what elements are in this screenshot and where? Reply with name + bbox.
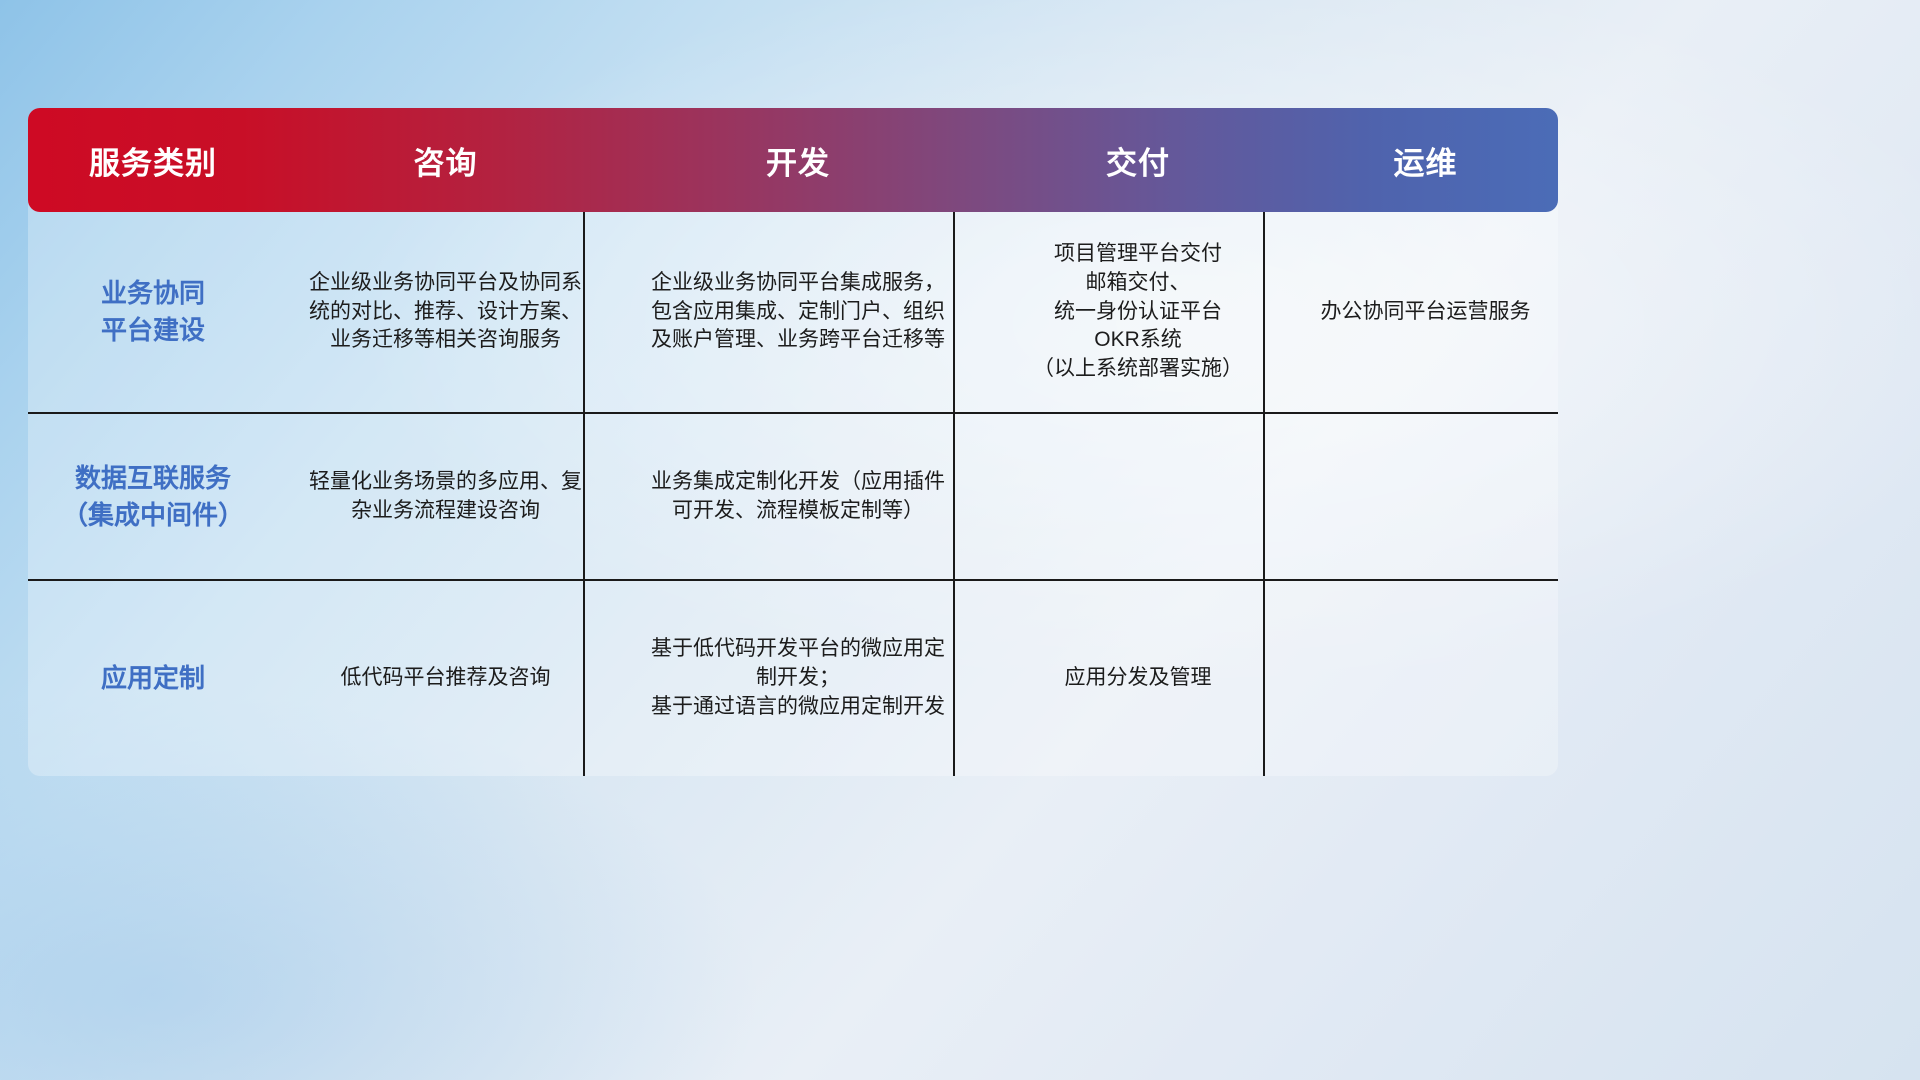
column-header-consulting: 咨询 (278, 138, 613, 183)
service-matrix-table: 服务类别 咨询 开发 交付 运维 业务协同 平台建设 企业级业务协同平台及协同系… (28, 108, 1558, 776)
row-category-label: 业务协同 平台建设 (28, 212, 278, 412)
table-row: 业务协同 平台建设 企业级业务协同平台及协同系 统的对比、推荐、设计方案、 业务… (28, 212, 1558, 412)
column-header-delivery: 交付 (983, 138, 1293, 183)
cell-development: 企业级业务协同平台集成服务， 包含应用集成、定制门户、组织 及账户管理、业务跨平… (613, 212, 983, 412)
cell-consulting: 轻量化业务场景的多应用、复 杂业务流程建设咨询 (278, 414, 613, 579)
cell-development: 基于低代码开发平台的微应用定 制开发； 基于通过语言的微应用定制开发 (613, 581, 983, 776)
column-header-category: 服务类别 (28, 138, 278, 183)
table-body: 业务协同 平台建设 企业级业务协同平台及协同系 统的对比、推荐、设计方案、 业务… (28, 212, 1558, 776)
table-row: 应用定制 低代码平台推荐及咨询 基于低代码开发平台的微应用定 制开发； 基于通过… (28, 581, 1558, 776)
row-divider (28, 579, 1558, 581)
cell-delivery (983, 414, 1293, 579)
column-divider (1263, 212, 1265, 776)
column-divider (583, 212, 585, 776)
cell-operations (1293, 581, 1558, 776)
row-category-label: 数据互联服务 （集成中间件） (28, 414, 278, 579)
cell-delivery: 项目管理平台交付 邮箱交付、 统一身份认证平台 OKR系统 （以上系统部署实施） (983, 212, 1293, 412)
column-divider (953, 212, 955, 776)
table-header-row: 服务类别 咨询 开发 交付 运维 (28, 108, 1558, 212)
cell-operations (1293, 414, 1558, 579)
cell-consulting: 低代码平台推荐及咨询 (278, 581, 613, 776)
cell-consulting: 企业级业务协同平台及协同系 统的对比、推荐、设计方案、 业务迁移等相关咨询服务 (278, 212, 613, 412)
table-row: 数据互联服务 （集成中间件） 轻量化业务场景的多应用、复 杂业务流程建设咨询 业… (28, 414, 1558, 579)
cell-delivery: 应用分发及管理 (983, 581, 1293, 776)
cell-operations: 办公协同平台运营服务 (1293, 212, 1558, 412)
row-divider (28, 412, 1558, 414)
column-header-operations: 运维 (1293, 138, 1558, 183)
cell-development: 业务集成定制化开发（应用插件 可开发、流程模板定制等） (613, 414, 983, 579)
row-category-label: 应用定制 (28, 581, 278, 776)
column-header-development: 开发 (613, 138, 983, 183)
